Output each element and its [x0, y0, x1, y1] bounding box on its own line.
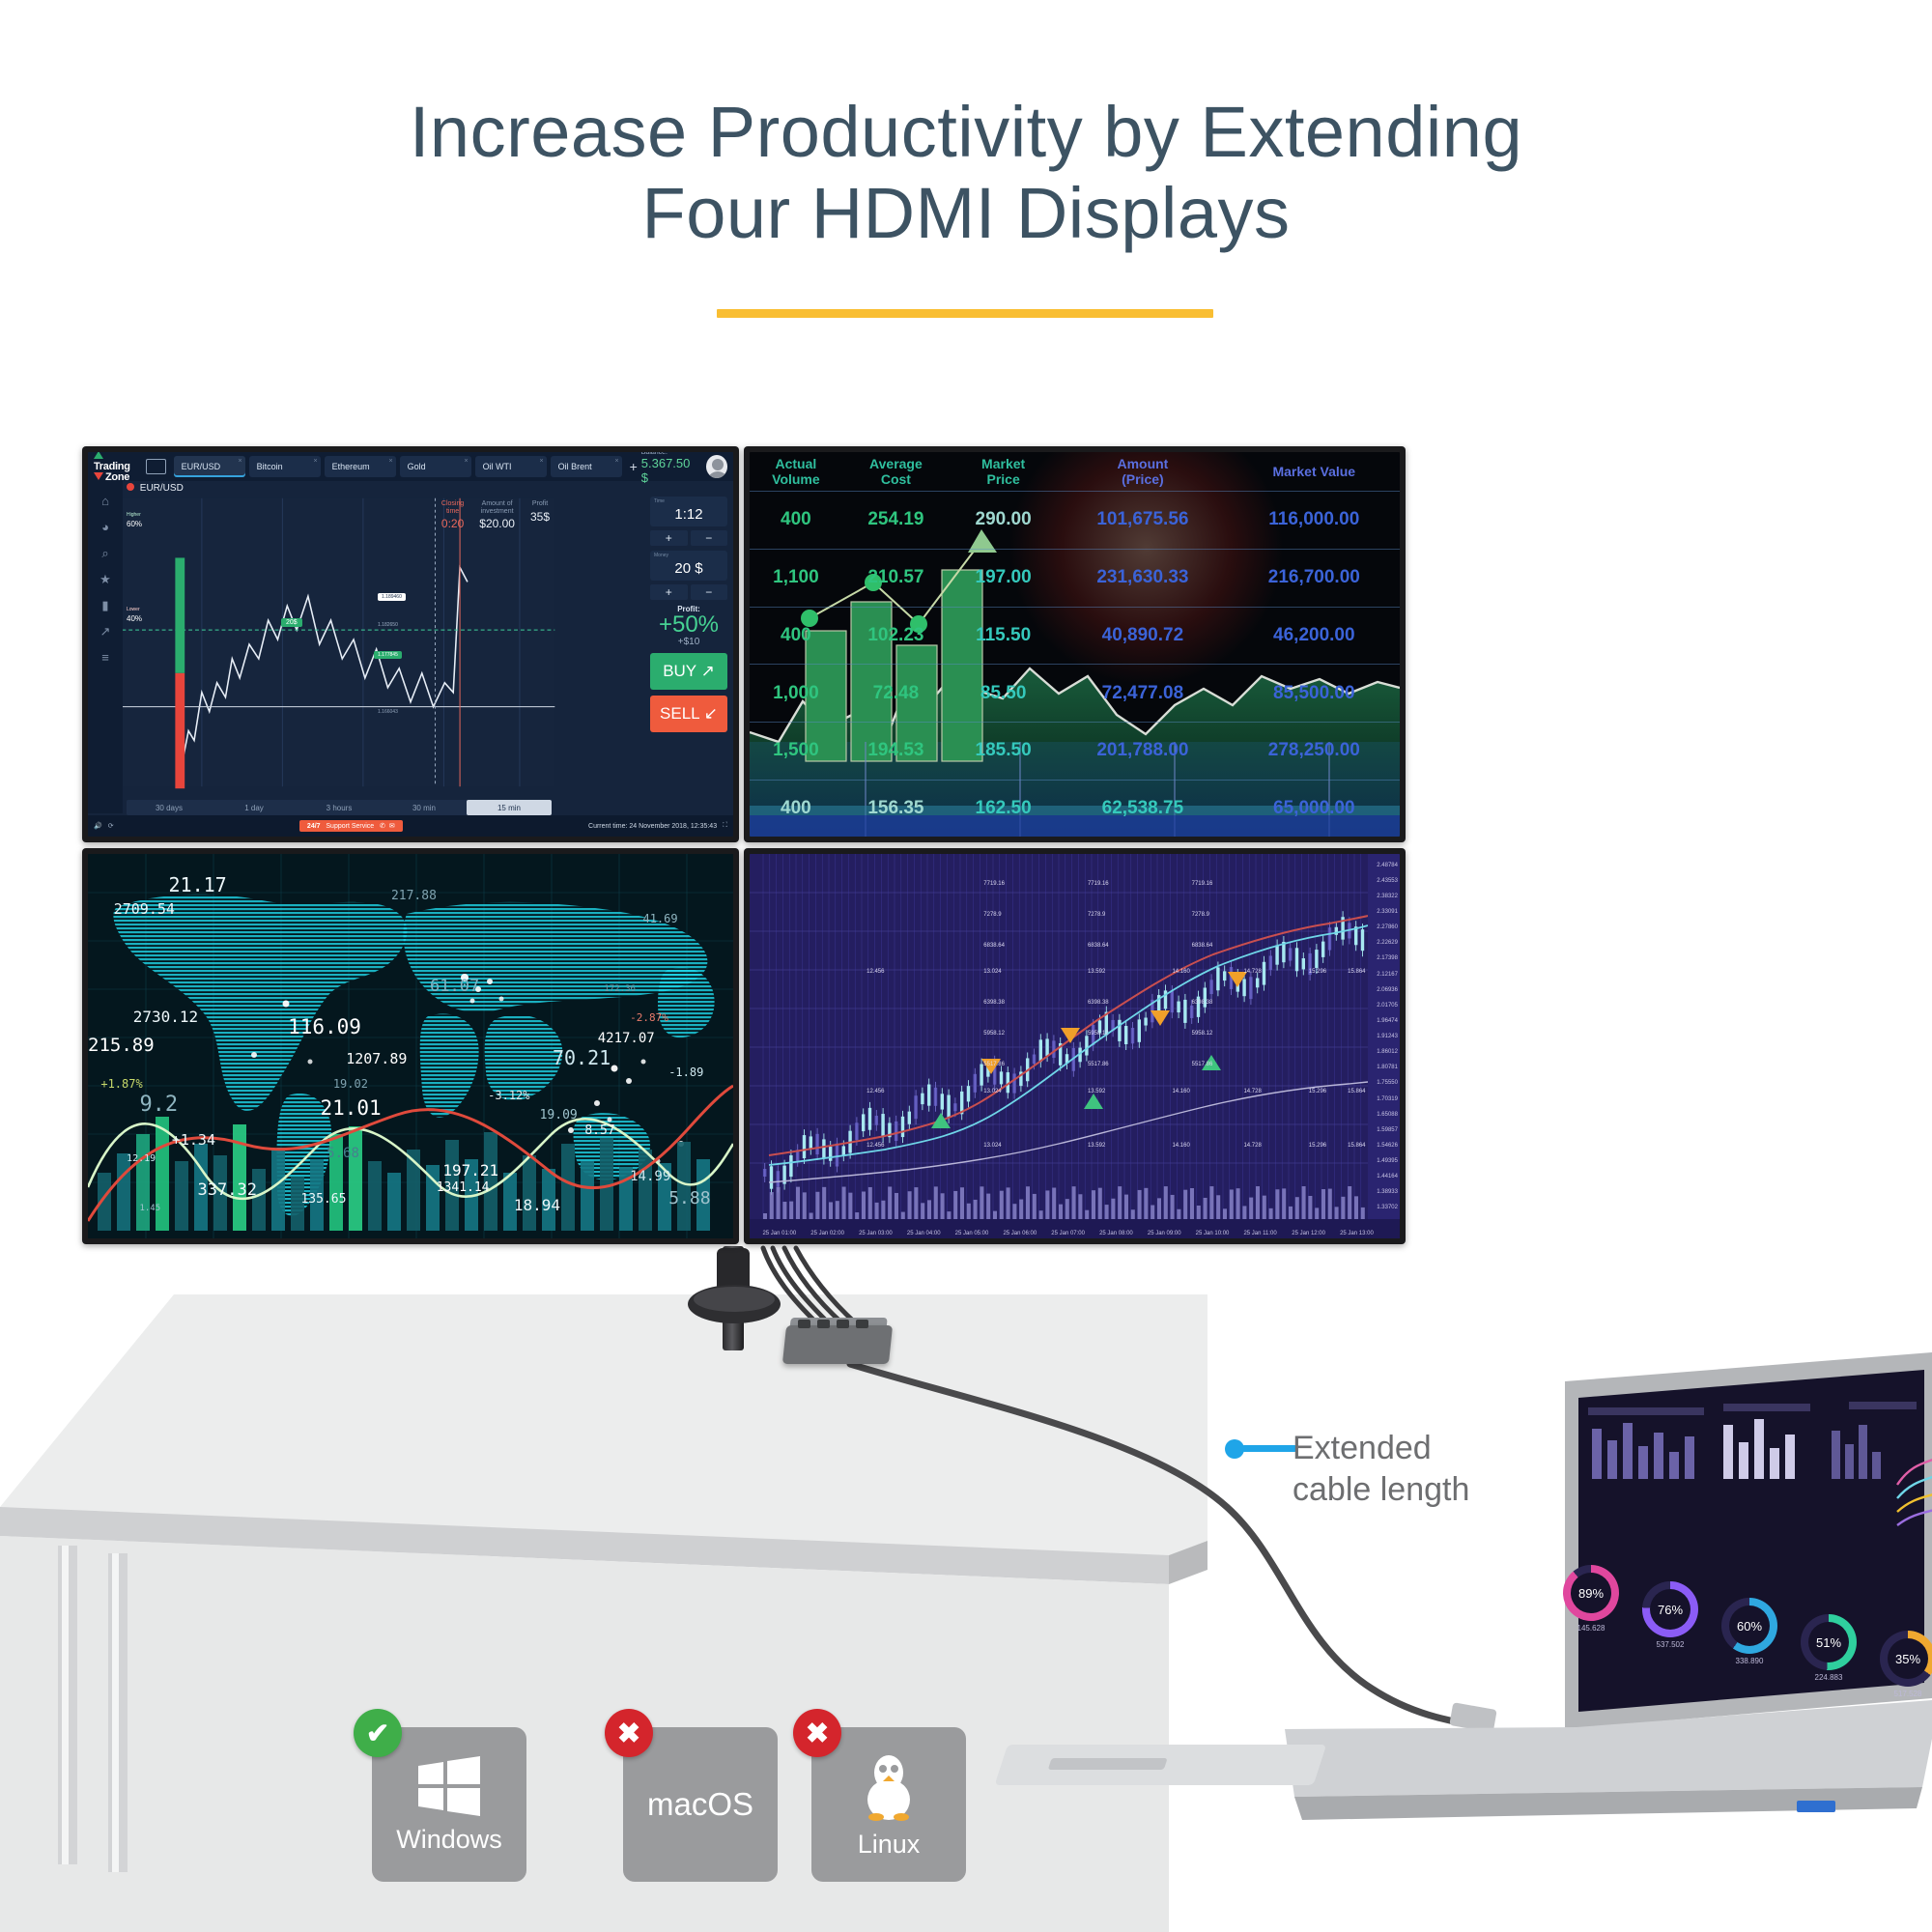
map-value: 197.21 — [442, 1161, 498, 1179]
volume-grid-label: 14.728 — [1243, 1089, 1261, 1094]
support-badge[interactable]: 24/7 Support Service ✆ ✉ — [299, 820, 403, 832]
search-icon[interactable]: ⌕ — [99, 547, 112, 560]
record-icon — [127, 483, 134, 491]
tab-oil-wti[interactable]: Oil WTI× — [475, 456, 547, 477]
gauge-value: 145.628 — [1557, 1624, 1625, 1633]
timeframe-30-days[interactable]: 30 days — [127, 804, 212, 812]
cell-market-price: 85.50 — [950, 665, 1057, 723]
time-minus-button[interactable]: − — [691, 530, 728, 546]
map-value: 2709.54 — [114, 900, 175, 918]
volume-grid-label: 13.592 — [1088, 969, 1105, 975]
menu-icon[interactable]: ≡ — [99, 651, 112, 665]
layout-icon[interactable] — [146, 459, 166, 474]
laptop-gauge: 60%338.890 — [1716, 1598, 1783, 1665]
os-badge-linux: ✖ Linux — [811, 1727, 966, 1882]
right-axis-tick: 1.96474 — [1377, 1018, 1398, 1024]
right-axis-tick: 1.86012 — [1377, 1049, 1398, 1055]
tab-bitcoin[interactable]: Bitcoin× — [249, 456, 321, 477]
volume-grid-label: 15.864 — [1348, 1143, 1365, 1149]
price-grid-label: 5517.86 — [1088, 1062, 1109, 1067]
map-value: 215.89 — [88, 1035, 155, 1056]
pie-icon[interactable]: ◕ — [99, 521, 112, 534]
support-label: Support Service — [326, 823, 374, 830]
close-icon[interactable]: × — [539, 458, 543, 465]
right-axis-tick: 2.27860 — [1377, 924, 1398, 930]
monitor-stand-base-top — [694, 1287, 775, 1312]
volume-grid-label: 15.296 — [1309, 969, 1326, 975]
hdmi-splitter — [782, 1325, 893, 1364]
os-label: macOS — [647, 1786, 753, 1823]
map-value: 8.57 — [584, 1123, 614, 1138]
map-value: 18.94 — [514, 1196, 560, 1214]
cell-market-price: 290.00 — [950, 492, 1057, 550]
right-axis-tick: 1.44164 — [1377, 1174, 1398, 1179]
cell-market-value: 65,000.00 — [1229, 780, 1400, 837]
hdmi-port-4 — [856, 1320, 868, 1328]
date-axis-tick: 25 Jan 07:00 — [1051, 1231, 1085, 1236]
table-row: 1,00072.4885.5072,477.0885,500.00 — [750, 665, 1400, 723]
map-value: 19.09 — [540, 1108, 578, 1122]
fullscreen-icon[interactable]: ⛶ — [723, 822, 727, 830]
cell-volume: 400 — [750, 780, 842, 837]
monitor-top-left: Trading Zone EUR/USD× Bitcoin× Ethereum×… — [82, 446, 739, 842]
volume-grid-label: 14.160 — [1172, 1143, 1189, 1149]
cell-market-value: 216,700.00 — [1229, 549, 1400, 607]
order-panel: Time 1:12 + − Money 20 $ + − — [650, 497, 727, 732]
map-value: 2730.12 — [133, 1008, 198, 1026]
date-axis-tick: 25 Jan 10:00 — [1196, 1231, 1230, 1236]
price-grid-label: 7719.16 — [1088, 881, 1109, 887]
map-value: 70.21 — [553, 1046, 611, 1069]
date-axis-tick: 25 Jan 03:00 — [859, 1231, 893, 1236]
table-row: 400254.19290.00101,675.56116,000.00 — [750, 492, 1400, 550]
right-axis-tick: 1.80781 — [1377, 1065, 1398, 1070]
price-grid-label: 7278.9 — [983, 912, 1001, 918]
map-value: 21.01 — [320, 1096, 381, 1120]
volume-grid-label: 13.024 — [983, 1089, 1001, 1094]
monitor-bottom-left: 21.172709.54217.8841.69172.362730.1261.0… — [82, 848, 739, 1244]
close-icon[interactable]: × — [614, 458, 618, 465]
close-icon[interactable]: × — [313, 458, 317, 465]
volume-grid-label: 15.296 — [1309, 1089, 1326, 1094]
close-icon[interactable]: × — [388, 458, 392, 465]
star-icon[interactable]: ★ — [99, 573, 112, 586]
gauge-high-label: Higher — [127, 512, 141, 518]
cell-avg-cost: 194.53 — [842, 723, 950, 781]
map-value: 19.02 — [333, 1077, 368, 1091]
price-grid-label: 5958.12 — [1192, 1031, 1213, 1037]
meta-investment: Amount ofinvestment $20.00 — [479, 500, 515, 530]
price-grid-label: 5517.86 — [983, 1062, 1005, 1067]
balance-block: Balance: 5.367.50 $ — [641, 452, 696, 485]
map-value: -3.12% — [488, 1089, 529, 1102]
home-icon[interactable]: ⌂ — [99, 495, 112, 508]
title-accent-bar — [717, 309, 1213, 318]
trading-status-bar: 🔊 ⟳ 24/7 Support Service ✆ ✉ Current tim… — [88, 815, 733, 837]
avatar[interactable] — [706, 455, 727, 478]
cell-amount: 231,630.33 — [1057, 549, 1228, 607]
map-value: 135.65 — [300, 1192, 346, 1207]
laptop-gauge: 35%517.528 — [1874, 1631, 1932, 1698]
right-axis-tick: 1.49395 — [1377, 1158, 1398, 1164]
title-line-2: Four HDMI Displays — [0, 173, 1932, 254]
table-row: 400102.23115.5040,890.7246,200.00 — [750, 607, 1400, 665]
refresh-icon[interactable]: ⟳ — [108, 822, 114, 830]
map-value: 337.32 — [198, 1180, 257, 1200]
map-value: -1.89 — [668, 1065, 703, 1079]
volume-grid-label: 13.592 — [1088, 1089, 1105, 1094]
col-amount-price: Amount(Price) — [1057, 452, 1228, 492]
volume-grid-label: 12.456 — [867, 1143, 884, 1149]
tab-label: Oil WTI — [483, 462, 512, 471]
hdmi-port-1 — [798, 1320, 810, 1328]
laptop-gauge: 76%537.502 — [1636, 1581, 1704, 1649]
price-grid-label: 6398.38 — [1192, 1000, 1213, 1006]
linux-penguin-icon — [859, 1749, 919, 1823]
map-value: 12.19 — [127, 1153, 156, 1164]
screen-world-map: 21.172709.54217.8841.69172.362730.1261.0… — [88, 854, 733, 1238]
right-axis-tick: 1.54626 — [1377, 1143, 1398, 1149]
cell-market-value: 278,250.00 — [1229, 723, 1400, 781]
cell-market-price: 185.50 — [950, 723, 1057, 781]
map-value: 4217.07 — [598, 1031, 655, 1046]
cell-avg-cost: 254.19 — [842, 492, 950, 550]
cell-market-price: 162.50 — [950, 780, 1057, 837]
price-grid-label: 6838.64 — [1088, 943, 1109, 949]
right-axis-tick: 2.22629 — [1377, 940, 1398, 946]
add-tab-button[interactable]: + — [630, 459, 638, 474]
price-tag-1: 1.189460 — [378, 593, 406, 601]
cell-volume: 1,100 — [750, 549, 842, 607]
timeframe-1-day[interactable]: 1 day — [212, 804, 297, 812]
app-logo: Trading Zone — [94, 452, 138, 483]
map-value: 21.17 — [169, 873, 227, 896]
tab-eur-usd[interactable]: EUR/USD× — [174, 456, 245, 477]
map-value: 217.88 — [391, 889, 437, 903]
right-axis-tick: 2.12167 — [1377, 972, 1398, 978]
date-axis-tick: 25 Jan 05:00 — [955, 1231, 989, 1236]
date-axis-tick: 25 Jan 13:00 — [1340, 1231, 1374, 1236]
page-title: Increase Productivity by Extending Four … — [0, 92, 1932, 255]
table-header-row: ActualVolume AverageCost MarketPrice Amo… — [750, 452, 1400, 492]
right-axis-tick: 2.06936 — [1377, 987, 1398, 993]
right-axis-tick: 2.48784 — [1377, 863, 1398, 868]
date-axis-tick: 25 Jan 01:00 — [762, 1231, 796, 1236]
cell-amount: 62,538.75 — [1057, 780, 1228, 837]
cell-market-value: 46,200.00 — [1229, 607, 1400, 665]
price-grid-label: 5517.86 — [1192, 1062, 1213, 1067]
col-average-cost: AverageCost — [842, 452, 950, 492]
monitor-bottom-right: 7719.167719.167719.167278.97278.97278.96… — [744, 848, 1406, 1244]
os-badge-macos: ✖ macOS — [623, 1727, 778, 1882]
volume-grid-label: 13.024 — [983, 1143, 1001, 1149]
price-tag-2: 1.182650 — [378, 622, 398, 628]
price-grid-label: 5958.12 — [1088, 1031, 1109, 1037]
poster-canvas: Increase Productivity by Extending Four … — [0, 0, 1932, 1932]
date-axis-tick: 25 Jan 04:00 — [907, 1231, 941, 1236]
cell-market-value: 116,000.00 — [1229, 492, 1400, 550]
trading-sidebar: ⌂ ◕ ⌕ ★ ▮ ↗ ≡ — [88, 481, 123, 813]
cell-volume: 400 — [750, 607, 842, 665]
map-value: +1.34 — [172, 1131, 215, 1149]
gauge-low-label: Lower — [127, 607, 140, 612]
tab-label: Ethereum — [332, 462, 370, 471]
date-axis-tick: 25 Jan 11:00 — [1243, 1231, 1276, 1236]
volume-grid-label: 12.456 — [867, 1089, 884, 1094]
laptop-gauge: 51%224.883 — [1795, 1614, 1862, 1682]
close-icon[interactable]: × — [238, 458, 241, 465]
cross-icon: ✖ — [605, 1709, 653, 1757]
date-axis-tick: 25 Jan 08:00 — [1099, 1231, 1133, 1236]
price-grid-label: 7719.16 — [983, 881, 1005, 887]
map-value: 14.99 — [630, 1169, 670, 1184]
right-axis-tick: 1.33702 — [1377, 1205, 1398, 1210]
right-axis-tick: 1.91243 — [1377, 1034, 1398, 1039]
cell-avg-cost: 72.48 — [842, 665, 950, 723]
map-value: 1.45 — [139, 1204, 160, 1213]
money-stepper: + − — [650, 584, 727, 600]
cell-amount: 201,788.00 — [1057, 723, 1228, 781]
meta-closing-time: Closingtime 0:20 — [441, 500, 464, 530]
price-tag-3: 1.177845 — [374, 651, 402, 659]
right-axis-tick: 2.43553 — [1377, 878, 1398, 884]
cell-volume: 1,000 — [750, 665, 842, 723]
gauge-low-pct: 40% — [127, 614, 142, 623]
map-value: 5.88 — [668, 1188, 710, 1208]
buy-button[interactable]: BUY ↗ — [650, 653, 727, 690]
screen-trading-app: Trading Zone EUR/USD× Bitcoin× Ethereum×… — [88, 452, 733, 837]
map-value: 61.07 — [430, 977, 479, 996]
screen-candlestick-terminal: 7719.167719.167719.167278.97278.97278.96… — [750, 854, 1400, 1238]
mail-icon[interactable]: ✉ — [389, 823, 395, 830]
cell-volume: 1,500 — [750, 723, 842, 781]
os-badge-windows: ✔ Windows — [372, 1727, 526, 1882]
volume-grid-label: 15.296 — [1309, 1143, 1326, 1149]
gauge-percent: 51% — [1808, 1622, 1849, 1662]
right-axis-tick: 1.70319 — [1377, 1096, 1398, 1102]
volume-grid-label: 14.728 — [1243, 969, 1261, 975]
cell-market-value: 85,500.00 — [1229, 665, 1400, 723]
os-label: Windows — [396, 1825, 502, 1855]
cell-volume: 400 — [750, 492, 842, 550]
time-stepper: + − — [650, 530, 727, 546]
gauge-percent: 76% — [1650, 1589, 1690, 1630]
table-row: 1,500194.53185.50201,788.00278,250.00 — [750, 723, 1400, 781]
trend-icon[interactable]: ↗ — [99, 625, 112, 639]
instrument-name: EUR/USD — [140, 483, 184, 494]
price-grid-label: 6838.64 — [983, 943, 1005, 949]
meta-profit: Profit 35$ — [530, 500, 550, 530]
hdmi-port-3 — [837, 1320, 849, 1328]
monitor-top-right: ActualVolume AverageCost MarketPrice Amo… — [744, 446, 1406, 842]
date-axis-tick: 25 Jan 09:00 — [1148, 1231, 1181, 1236]
volume-grid-label: 15.864 — [1348, 1089, 1365, 1094]
map-value: 1341.14 — [437, 1180, 490, 1195]
volume-grid-label: 14.728 — [1243, 1143, 1261, 1149]
map-value: -2.87% — [630, 1011, 668, 1024]
balance-value: 5.367.50 $ — [641, 456, 696, 485]
volume-grid-label: 15.864 — [1348, 969, 1365, 975]
support-24-7: 24/7 — [307, 823, 321, 830]
right-axis-tick: 1.38933 — [1377, 1189, 1398, 1195]
hdmi-port-2 — [817, 1320, 830, 1328]
screen-market-table: ActualVolume AverageCost MarketPrice Amo… — [750, 452, 1400, 837]
callout-dot — [1225, 1439, 1244, 1459]
tab-label: Bitcoin — [257, 462, 283, 471]
price-grid-label: 5958.12 — [983, 1031, 1005, 1037]
map-value: 9.2 — [139, 1093, 178, 1117]
callout-line-2: cable length — [1293, 1469, 1469, 1511]
price-tag-4: 1.166043 — [378, 709, 398, 715]
check-icon: ✔ — [354, 1709, 402, 1757]
date-axis-tick: 25 Jan 12:00 — [1292, 1231, 1325, 1236]
price-grid-label: 6398.38 — [1088, 1000, 1109, 1006]
right-axis-tick: 1.65088 — [1377, 1112, 1398, 1118]
market-table-body: 400254.19290.00101,675.56116,000.00 1,10… — [750, 492, 1400, 838]
col-market-value: Market Value — [1229, 452, 1400, 492]
sound-icon[interactable]: 🔊 — [94, 822, 102, 830]
time-panel: Time 1:12 — [650, 497, 727, 526]
title-line-1: Increase Productivity by Extending — [0, 92, 1932, 173]
date-axis-tick: 25 Jan 02:00 — [810, 1231, 844, 1236]
phone-icon[interactable]: ✆ — [380, 823, 385, 830]
profit-amount: 35$ — [530, 510, 550, 524]
gauge-high-pct: 60% — [127, 520, 142, 528]
price-grid-label: 6398.38 — [983, 1000, 1005, 1006]
right-axis-tick: 1.59857 — [1377, 1127, 1398, 1133]
tab-ethereum[interactable]: Ethereum× — [325, 456, 396, 477]
cell-avg-cost: 156.35 — [842, 780, 950, 837]
timeframe-30-min[interactable]: 30 min — [382, 804, 467, 812]
date-axis-tick: 25 Jan 06:00 — [1003, 1231, 1037, 1236]
tl-chart-canvas — [88, 452, 733, 837]
money-minus-button[interactable]: − — [691, 584, 728, 600]
right-axis-tick: 2.33091 — [1377, 909, 1398, 915]
cell-amount: 40,890.72 — [1057, 607, 1228, 665]
price-grid-label: 7278.9 — [1192, 912, 1209, 918]
closing-time-value: 0:20 — [441, 517, 464, 530]
right-axis-tick: 2.17398 — [1377, 955, 1398, 961]
current-time: Current time: 24 November 2018, 12:35:43 — [588, 823, 717, 830]
time-plus-button[interactable]: + — [650, 530, 688, 546]
timeframe-3-hours[interactable]: 3 hours — [297, 804, 382, 812]
cell-amount: 72,477.08 — [1057, 665, 1228, 723]
time-label: Time — [654, 498, 665, 504]
close-icon[interactable]: × — [464, 458, 468, 465]
tab-label: Gold — [408, 462, 426, 471]
right-axis-tick: 2.38322 — [1377, 894, 1398, 899]
gauge-value: 537.502 — [1636, 1640, 1704, 1649]
laptop-gauge: 89%145.628 — [1557, 1565, 1625, 1633]
volume-grid-label: 13.592 — [1088, 1143, 1105, 1149]
volume-grid-label: 14.160 — [1172, 1089, 1189, 1094]
volume-grid-label: 14.160 — [1172, 969, 1189, 975]
map-value: 172.36 — [604, 984, 636, 994]
gauge-value: 338.890 — [1716, 1657, 1783, 1665]
timeframe-bar: 30 days 1 day 3 hours 30 min 15 min — [127, 800, 552, 815]
money-label: Money — [654, 553, 668, 558]
table-row: 1,100210.57197.00231,630.33216,700.00 — [750, 549, 1400, 607]
profit-percent: +50% — [650, 613, 727, 637]
os-label: Linux — [858, 1830, 921, 1860]
map-value: 5.68 — [327, 1146, 359, 1161]
order-badge: 20$ — [281, 618, 302, 627]
map-value: +1.87% — [100, 1077, 142, 1091]
col-actual-volume: ActualVolume — [750, 452, 842, 492]
timeframe-15-min[interactable]: 15 min — [467, 800, 552, 815]
volume-grid-label: 13.024 — [983, 969, 1001, 975]
profit-absolute: +$10 — [650, 637, 727, 647]
tab-oil-brent[interactable]: Oil Brent× — [551, 456, 622, 477]
gauge-percent: 35% — [1888, 1638, 1928, 1679]
cell-market-price: 197.00 — [950, 549, 1057, 607]
price-grid-label: 7278.9 — [1088, 912, 1105, 918]
money-plus-button[interactable]: + — [650, 584, 688, 600]
money-panel: Money 20 $ — [650, 551, 727, 581]
map-value: 41.69 — [642, 912, 677, 925]
instrument-label: EUR/USD — [127, 483, 184, 494]
bars-icon[interactable]: ▮ — [99, 599, 112, 612]
tab-label: EUR/USD — [182, 462, 221, 471]
right-axis-tick: 1.75550 — [1377, 1080, 1398, 1086]
price-grid-label: 7719.16 — [1192, 881, 1213, 887]
sell-button[interactable]: SELL ↙ — [650, 696, 727, 732]
gauge-value: 224.883 — [1795, 1673, 1862, 1682]
price-grid-label: 6838.64 — [1192, 943, 1213, 949]
windows-logo-icon — [414, 1754, 484, 1818]
callout-line-1: Extended — [1293, 1428, 1469, 1469]
balance-label: Balance: — [641, 452, 668, 456]
tab-label: Oil Brent — [558, 462, 592, 471]
gauge-percent: 89% — [1571, 1573, 1611, 1613]
right-axis-tick: 2.01705 — [1377, 1003, 1398, 1009]
map-value: 116.09 — [288, 1015, 361, 1038]
tab-gold[interactable]: Gold× — [400, 456, 471, 477]
cross-icon: ✖ — [793, 1709, 841, 1757]
map-value: 1207.89 — [346, 1050, 407, 1067]
gauge-percent: 60% — [1729, 1605, 1770, 1646]
market-table: ActualVolume AverageCost MarketPrice Amo… — [750, 452, 1400, 837]
gauge-value: 517.528 — [1874, 1690, 1932, 1698]
cell-avg-cost: 210.57 — [842, 549, 950, 607]
cell-avg-cost: 102.23 — [842, 607, 950, 665]
table-row: 400156.35162.5062,538.7565,000.00 — [750, 780, 1400, 837]
callout-extended-cable: Extended cable length — [1293, 1428, 1469, 1511]
cell-market-price: 115.50 — [950, 607, 1057, 665]
investment-value: $20.00 — [479, 517, 515, 530]
callout-leader-line — [1242, 1445, 1296, 1452]
candlestick-canvas — [750, 854, 1400, 1238]
trading-toolbar: Trading Zone EUR/USD× Bitcoin× Ethereum×… — [88, 452, 733, 481]
cell-amount: 101,675.56 — [1057, 492, 1228, 550]
col-market-price: MarketPrice — [950, 452, 1057, 492]
trade-meta: Closingtime 0:20 Amount ofinvestment $20… — [441, 500, 550, 530]
volume-grid-label: 12.456 — [867, 969, 884, 975]
